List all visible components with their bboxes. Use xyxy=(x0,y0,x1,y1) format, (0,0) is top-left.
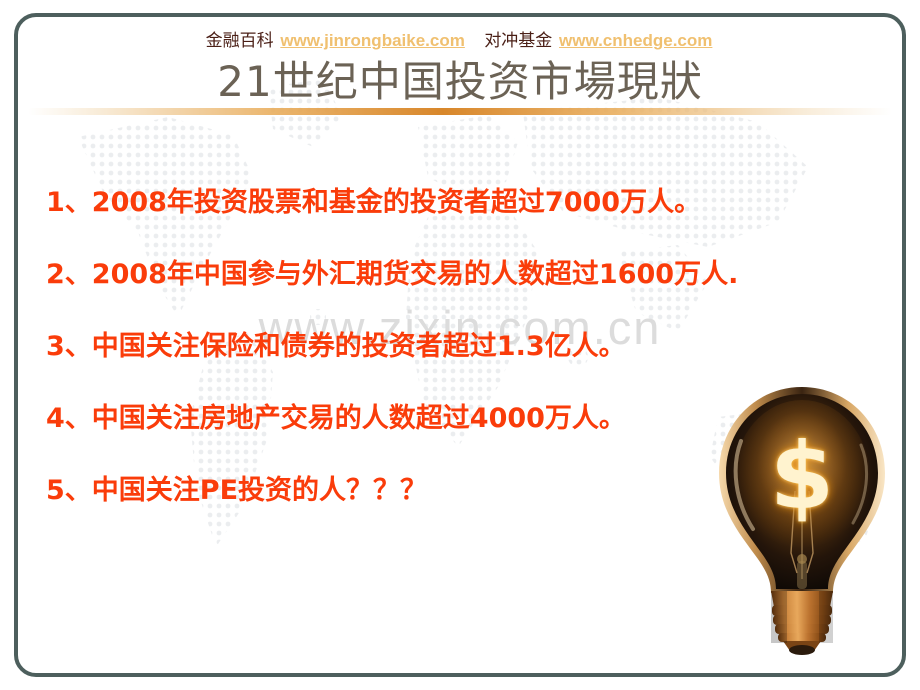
list-item: 4、中国关注房地产交易的人数超过4000万人。 xyxy=(46,402,846,436)
header-credit-line: 金融百科 www.jinrongbaike.com 对冲基金 www.cnhed… xyxy=(0,30,920,52)
presentation-slide: www.zixin.com.cn 金融百科 www.jinrongbaike.c… xyxy=(0,0,920,690)
list-item: 1、2008年投资股票和基金的投资者超过7000万人。 xyxy=(46,186,846,220)
slide-title: 21世纪中国投资市場現狀 xyxy=(0,57,920,107)
title-divider xyxy=(28,108,892,115)
site2-name-label: 对冲基金 xyxy=(484,31,552,50)
list-item: 5、中国关注PE投资的人？？？ xyxy=(46,474,846,508)
list-item: 3、中国关注保险和债券的投资者超过1.3亿人。 xyxy=(46,330,846,364)
bullet-list: 1、2008年投资股票和基金的投资者超过7000万人。 2、2008年中国参与外… xyxy=(46,186,846,546)
site1-name-label: 金融百科 xyxy=(206,31,274,50)
site1-url-link[interactable]: www.jinrongbaike.com xyxy=(280,31,465,50)
site2-url-link[interactable]: www.cnhedge.com xyxy=(559,31,712,50)
list-item: 2、2008年中国参与外汇期货交易的人数超过1600万人. xyxy=(46,258,846,292)
